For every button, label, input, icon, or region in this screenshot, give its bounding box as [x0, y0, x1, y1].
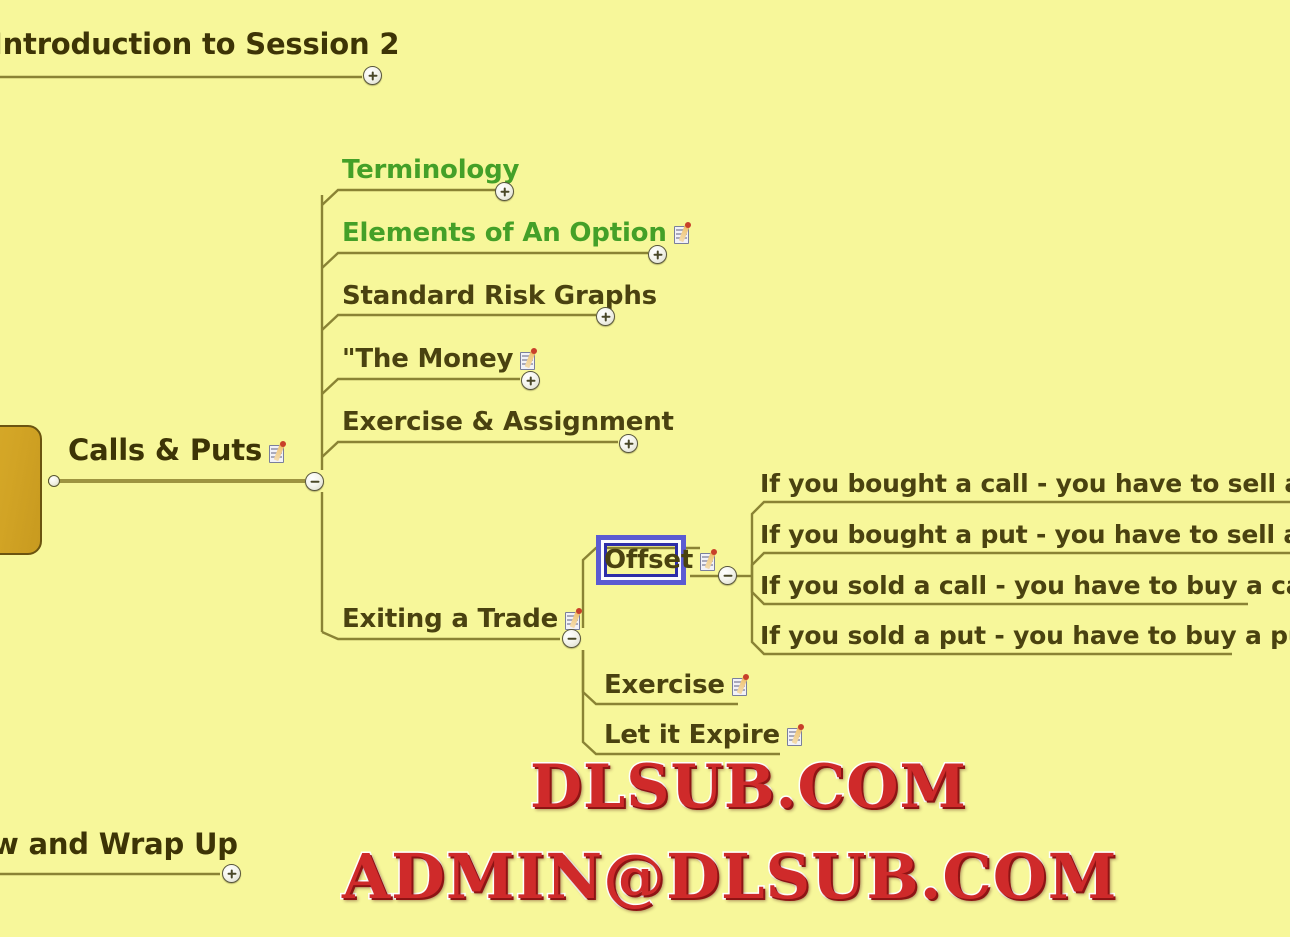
expand-button-exercise-and-assignment[interactable]	[619, 434, 638, 453]
node-exiting-a-trade[interactable]: Exiting a Trade	[342, 606, 586, 632]
root-node[interactable]	[0, 425, 42, 555]
node-standard-risk-graphs[interactable]: Standard Risk Graphs	[342, 283, 657, 309]
node-elements-of-an-option-label: Elements of An Option	[342, 218, 667, 248]
watermark-site-text: DLSUB.COM	[530, 752, 967, 822]
node-calls-and-puts-label: Calls & Puts	[68, 433, 262, 467]
note-icon[interactable]	[699, 550, 721, 572]
node-elements-of-an-option[interactable]: Elements of An Option	[342, 220, 695, 246]
node-the-money-label: "The Money	[342, 344, 513, 374]
node-exercise[interactable]: Exercise	[604, 672, 753, 698]
note-icon[interactable]	[564, 609, 586, 631]
node-the-money[interactable]: "The Money	[342, 346, 541, 372]
node-terminology[interactable]: Terminology	[342, 157, 519, 183]
node-calls-and-puts[interactable]: Calls & Puts	[68, 436, 290, 465]
node-if-you-sold-a-put[interactable]: If you sold a put - you have to buy a pu…	[760, 623, 1290, 648]
watermark-email: ADMIN@DLSUB.COM	[342, 840, 1117, 913]
expand-button-standard-risk-graphs[interactable]	[596, 307, 615, 326]
node-exiting-a-trade-label: Exiting a Trade	[342, 604, 558, 634]
expand-button-the-money[interactable]	[521, 371, 540, 390]
collapse-button-exiting-a-trade[interactable]	[562, 629, 581, 648]
expand-button-review-and-wrap-up[interactable]	[222, 864, 241, 883]
watermark-email-text: ADMIN@DLSUB.COM	[342, 840, 1117, 913]
node-if-you-bought-a-put[interactable]: If you bought a put - you have to sell a…	[760, 522, 1290, 547]
node-offset-label: Offset	[604, 545, 693, 575]
expand-button-elements-of-an-option[interactable]	[648, 245, 667, 264]
collapse-button-calls-and-puts[interactable]	[305, 472, 324, 491]
node-if-you-sold-a-call[interactable]: If you sold a call - you have to buy a c…	[760, 573, 1290, 598]
note-icon[interactable]	[268, 442, 290, 464]
node-offset[interactable]: Offset	[604, 547, 721, 573]
node-exercise-and-assignment[interactable]: Exercise & Assignment	[342, 409, 674, 435]
mindmap-canvas: Introduction to Session 2 Calls & Puts T…	[0, 0, 1290, 937]
node-review-and-wrap-up[interactable]: w and Wrap Up	[0, 830, 238, 859]
note-icon[interactable]	[731, 675, 753, 697]
watermark-site: DLSUB.COM	[530, 752, 967, 822]
note-icon[interactable]	[786, 725, 808, 747]
node-if-you-bought-a-call[interactable]: If you bought a call - you have to sell …	[760, 471, 1290, 496]
root-connector-knob[interactable]	[48, 475, 60, 487]
node-let-it-expire-label: Let it Expire	[604, 720, 780, 750]
note-icon[interactable]	[519, 349, 541, 371]
node-exercise-label: Exercise	[604, 670, 725, 700]
node-let-it-expire[interactable]: Let it Expire	[604, 722, 808, 748]
node-introduction-to-session-2[interactable]: Introduction to Session 2	[0, 30, 399, 59]
expand-button-terminology[interactable]	[495, 182, 514, 201]
expand-button-introduction[interactable]	[363, 66, 382, 85]
note-icon[interactable]	[673, 223, 695, 245]
